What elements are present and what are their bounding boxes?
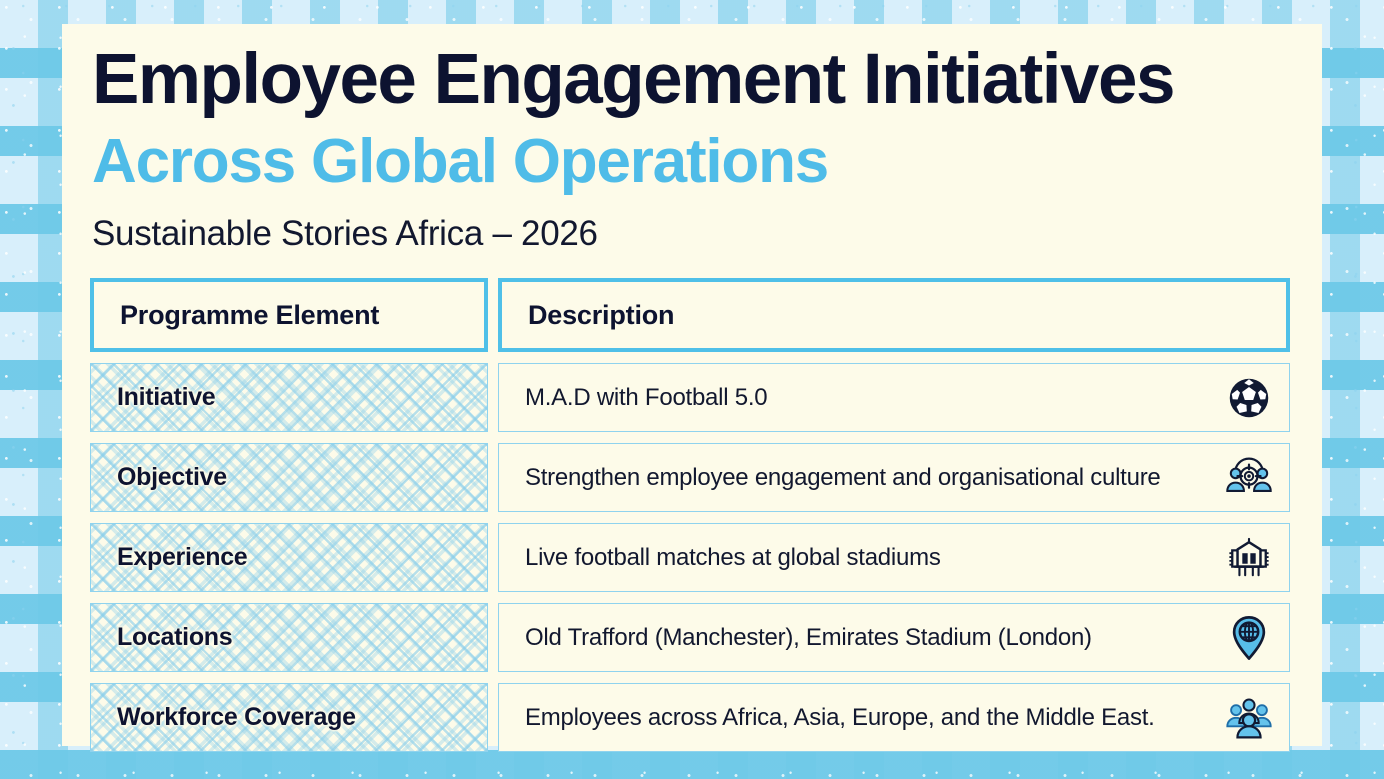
row-label-cell: Experience [90,523,488,592]
column-header-label: Description [528,300,674,331]
row-label-cell: Initiative [90,363,488,432]
globe-pin-icon [1223,612,1275,664]
row-label: Initiative [117,383,215,412]
row-description: Strengthen employee engagement and organ… [525,464,1161,492]
table-row: Initiative M.A.D with Football 5.0 [90,363,1290,432]
soccer-ball-icon [1223,372,1275,424]
row-description: Old Trafford (Manchester), Emirates Stad… [525,624,1092,652]
row-description: Live football matches at global stadiums [525,544,941,572]
column-header-programme-element: Programme Element [90,278,488,352]
table-row: Workforce Coverage Employees across Afri… [90,683,1290,752]
row-label-cell: Objective [90,443,488,512]
programme-table: Programme Element Description Initiative… [90,278,1290,763]
table-row: Locations Old Trafford (Manchester), Emi… [90,603,1290,672]
row-label: Experience [117,543,247,572]
row-description-cell: Live football matches at global stadiums [498,523,1290,592]
row-description-cell: Old Trafford (Manchester), Emirates Stad… [498,603,1290,672]
people-group-icon [1223,692,1275,744]
column-header-description: Description [498,278,1290,352]
row-label: Objective [117,463,227,492]
team-target-icon [1223,452,1275,504]
row-label-cell: Locations [90,603,488,672]
page-title-line-1: Employee Engagement Initiatives [92,44,1174,116]
page-subtitle: Sustainable Stories Africa – 2026 [92,214,598,254]
stadium-icon [1223,532,1275,584]
table-row: Objective Strengthen employee engagement… [90,443,1290,512]
table-header-row: Programme Element Description [90,278,1290,352]
page-title-line-2: Across Global Operations [92,130,828,193]
row-description-cell: Employees across Africa, Asia, Europe, a… [498,683,1290,752]
row-description: Employees across Africa, Asia, Europe, a… [525,704,1155,732]
row-label: Locations [117,623,232,652]
row-label-cell: Workforce Coverage [90,683,488,752]
row-description-cell: M.A.D with Football 5.0 [498,363,1290,432]
table-row: Experience Live football matches at glob… [90,523,1290,592]
row-description: M.A.D with Football 5.0 [525,384,767,412]
slide-card: Employee Engagement Initiatives Across G… [62,24,1322,746]
row-label: Workforce Coverage [117,703,356,732]
column-header-label: Programme Element [120,300,379,331]
row-description-cell: Strengthen employee engagement and organ… [498,443,1290,512]
